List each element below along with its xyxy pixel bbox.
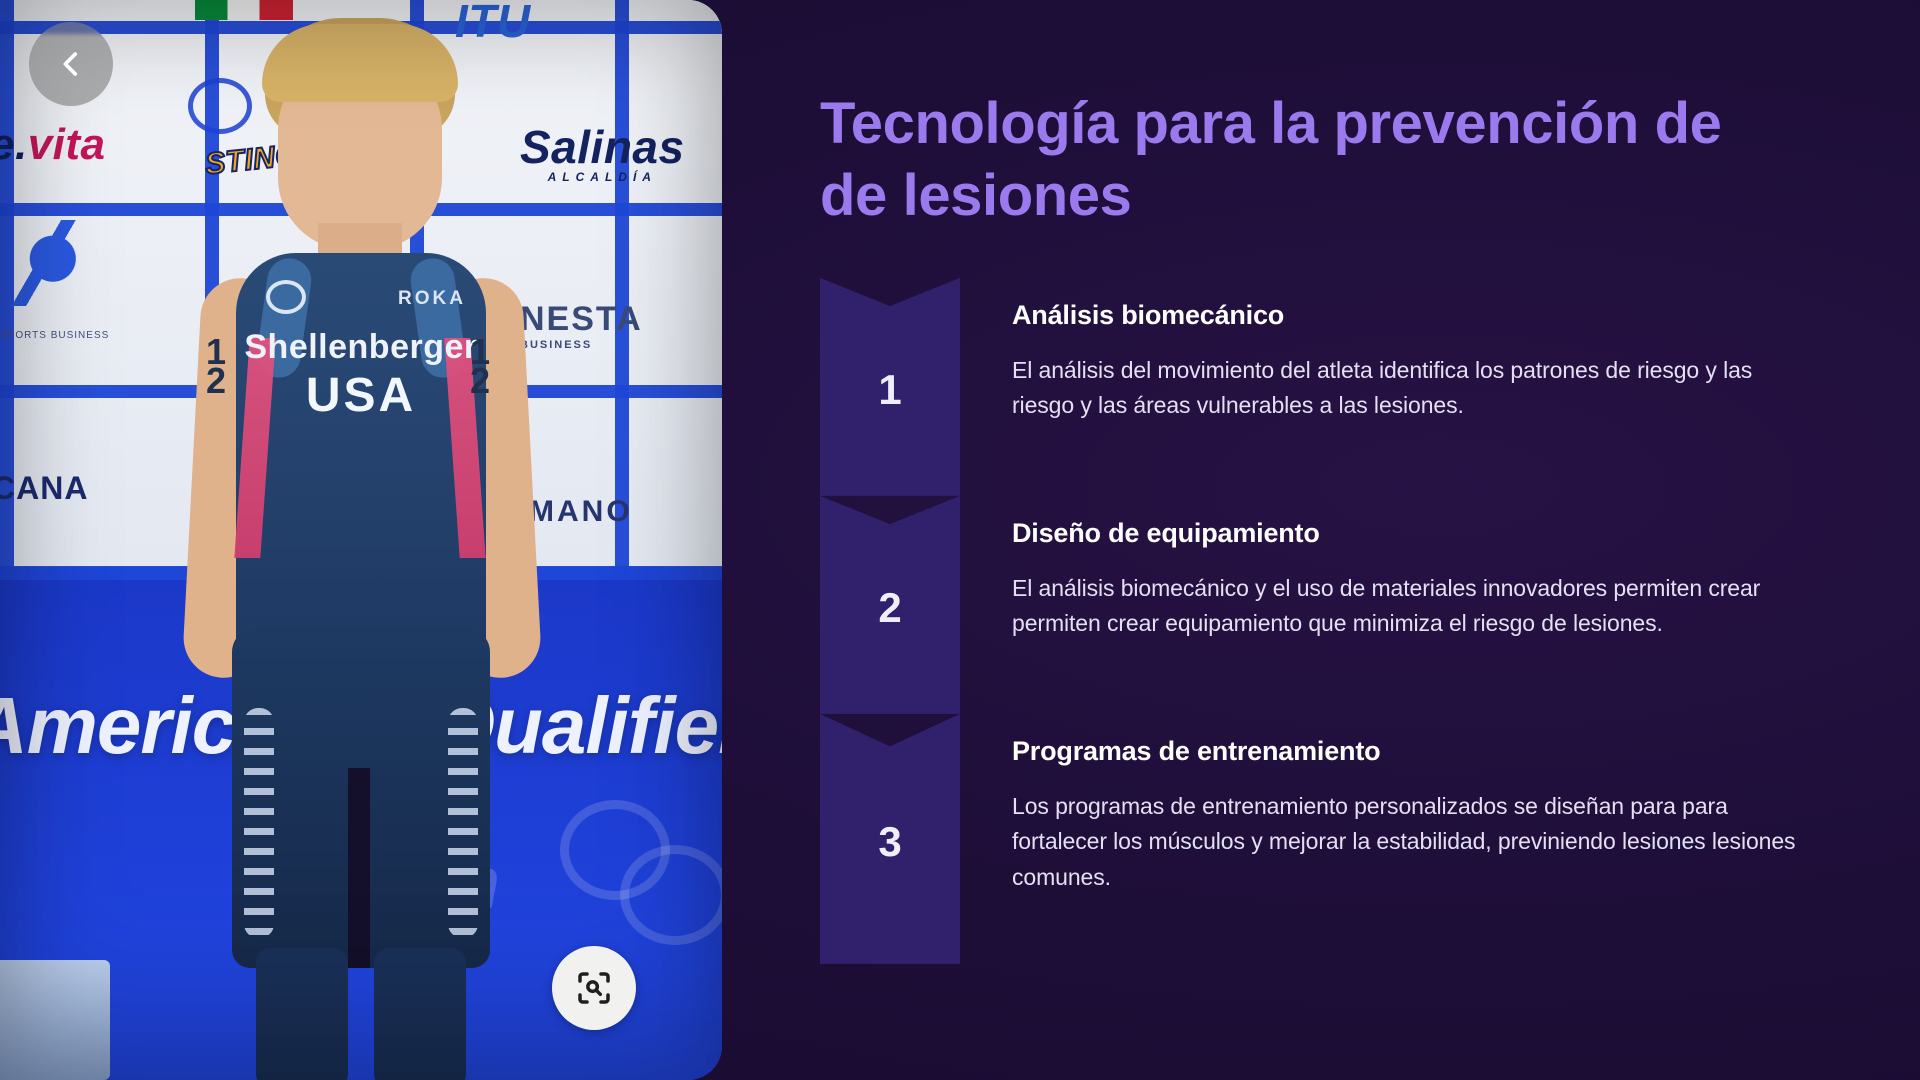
- slide-root: ITU Salinas ALCALDÍA e.vita STINGRAY NES…: [0, 0, 1920, 1080]
- athlete-figure: ROKA Shellenberger USA 12 12: [170, 8, 560, 1080]
- photo-panel: ITU Salinas ALCALDÍA e.vita STINGRAY NES…: [0, 0, 722, 1080]
- step-number: 1: [878, 369, 901, 411]
- athlete-leg-gap: [348, 768, 370, 968]
- bib-number-right: 12: [470, 338, 490, 396]
- lens-search-icon: [573, 967, 615, 1009]
- sponsor-vita-name: vita: [28, 120, 106, 169]
- suit-brand-label: ROKA: [398, 288, 466, 310]
- athlete-name-label: Shellenberger: [236, 328, 486, 367]
- step-text: El análisis del movimiento del atleta id…: [1012, 353, 1810, 424]
- step-heading: Programas de entrenamiento: [1012, 736, 1810, 767]
- step-heading: Análisis biomecánico: [1012, 300, 1810, 331]
- step-body: Programas de entrenamiento Los programas…: [960, 714, 1810, 896]
- step-text: El análisis biomecánico y el uso de mate…: [1012, 571, 1810, 642]
- podium-block: [0, 960, 110, 1080]
- step-number: 3: [878, 821, 901, 863]
- athlete-fringe: [262, 24, 458, 102]
- content-panel: Tecnología para la prevención de de lesi…: [722, 0, 1920, 1080]
- list-item[interactable]: 1 Análisis biomecánico El análisis del m…: [820, 278, 1810, 496]
- step-number: 2: [878, 587, 901, 629]
- step-body: Análisis biomecánico El análisis del mov…: [960, 278, 1810, 424]
- list-item[interactable]: 2 Diseño de equipamiento El análisis bio…: [820, 496, 1810, 714]
- step-text: Los programas de entrenamiento personali…: [1012, 789, 1810, 896]
- sponsor-sports-business: SPORTS BUSINESS: [0, 330, 109, 341]
- bib-number-left: 12: [206, 338, 226, 396]
- athlete-country-label: USA: [236, 368, 486, 423]
- step-heading: Diseño de equipamiento: [1012, 518, 1810, 549]
- athlete-leg-left: [256, 948, 348, 1080]
- lens-search-button[interactable]: [552, 946, 636, 1030]
- steps-list: 1 Análisis biomecánico El análisis del m…: [820, 278, 1810, 964]
- list-item[interactable]: 3 Programas de entrenamiento Los program…: [820, 714, 1810, 964]
- sponsor-cana: CANA: [0, 470, 88, 507]
- sponsor-vita: e.vita: [0, 120, 106, 170]
- suit-logo-icon: [266, 280, 306, 314]
- step-badge: 3: [820, 714, 960, 964]
- sponsor-vita-prefix: e.: [0, 120, 28, 169]
- back-button[interactable]: [29, 22, 113, 106]
- step-badge: 1: [820, 278, 960, 496]
- page-title: Tecnología para la prevención de de lesi…: [820, 88, 1800, 232]
- athlete-leg-right: [374, 948, 466, 1080]
- athlete-shorts-trim-right: [448, 708, 478, 938]
- athlete-shorts-trim-left: [244, 708, 274, 938]
- athlete-photo: ITU Salinas ALCALDÍA e.vita STINGRAY NES…: [0, 0, 722, 1080]
- step-body: Diseño de equipamiento El análisis biome…: [960, 496, 1810, 642]
- step-badge: 2: [820, 496, 960, 714]
- chevron-left-icon: [54, 47, 88, 81]
- runner-icon: [0, 220, 96, 306]
